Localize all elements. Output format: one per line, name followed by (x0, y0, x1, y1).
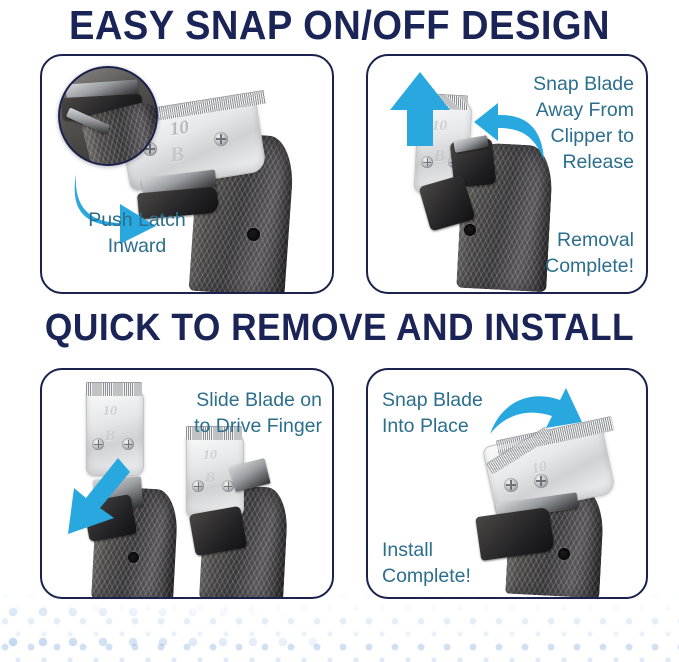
blade-screw-left (504, 478, 518, 492)
blade-teeth-left (86, 382, 142, 396)
clipper-body-hole (558, 548, 570, 560)
infographic-page: EASY SNAP ON/OFF DESIGN QUICK TO REMOVE … (0, 0, 679, 662)
blade-screw-left-b (192, 480, 204, 492)
inset-latch-detail (58, 66, 158, 166)
blade-marking-right: 10 (203, 448, 217, 464)
latch-tab-left (83, 494, 137, 542)
page-title-middle: QUICK TO REMOVE AND INSTALL (24, 307, 655, 350)
panel-slide-blade-on: 10 B 10 B Slide Blade on to Drive Finger (40, 368, 334, 599)
blade-marking: 10 (168, 117, 190, 142)
panel-push-latch-inward: 10 B Push Latch Inward (40, 54, 334, 294)
clipper-body-hole (247, 228, 260, 241)
page-title-top: EASY SNAP ON/OFF DESIGN (24, 2, 655, 49)
blade-marking: 10 (432, 118, 447, 135)
blade-logo-right: B (205, 470, 215, 487)
blade-marking-left: 10 (103, 404, 117, 420)
caption-snap-into-place: Snap Blade Into Place (382, 388, 542, 440)
blade-logo-left: B (105, 428, 115, 445)
caption-push-latch: Push Latch Inward (52, 208, 222, 260)
panel-snap-blade-away: 10 B Snap Blade Away From Clipper to Rel… (366, 54, 648, 294)
latch-tab-right (189, 506, 248, 556)
dot-pattern-decoration-dense (0, 602, 330, 662)
clipper-body-hole-left (128, 552, 139, 563)
dot-pattern-decoration (0, 590, 679, 662)
blade-screw-right (214, 132, 228, 146)
blade-screw-left (421, 156, 433, 168)
blade-logo: B (434, 148, 445, 166)
caption-install-complete: Install Complete! (382, 538, 542, 590)
blade-screw-left-a (92, 438, 104, 450)
blade-screw-right-a (122, 438, 134, 450)
panel-snap-blade-into-place: 10 Snap Blade Into Place Install Complet… (366, 368, 648, 599)
blade-teeth (416, 93, 469, 111)
caption-snap-blade-away: Snap Blade Away From Clipper to Release (472, 72, 634, 176)
caption-slide-blade: Slide Blade on to Drive Finger (136, 388, 322, 440)
caption-removal-complete: Removal Complete! (472, 228, 634, 280)
blade-screw-right (534, 474, 548, 488)
